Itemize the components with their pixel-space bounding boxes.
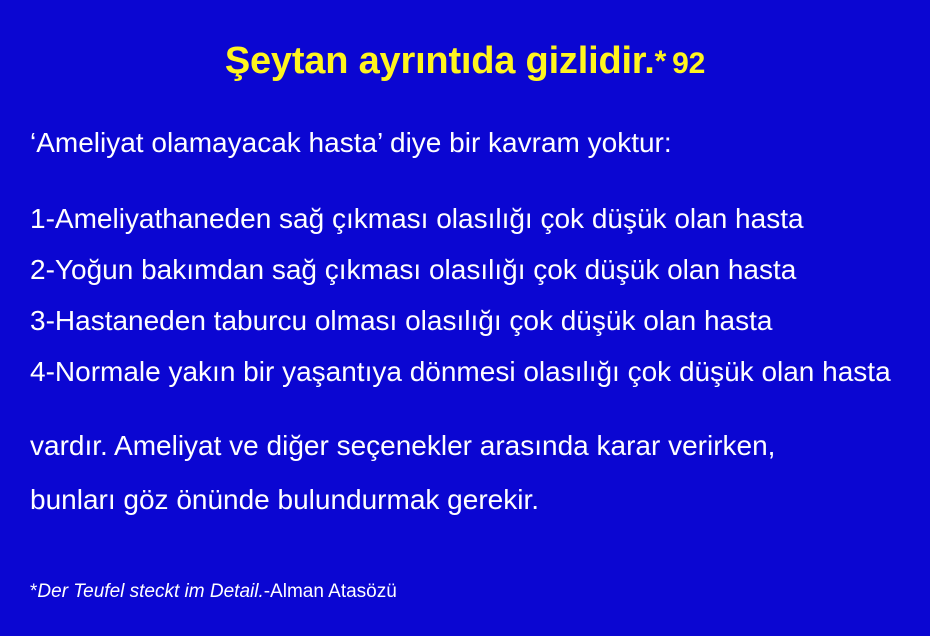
slide-body: ‘Ameliyat olamayacak hasta’ diye bir kav… xyxy=(30,126,920,517)
list-item: 2-Yoğun bakımdan sağ çıkması olasılığı ç… xyxy=(30,253,920,287)
slide-title-main: Şeytan ayrıntıda gizlidir. xyxy=(225,40,655,82)
paragraph-line: vardır. Ameliyat ve diğer seçenekler ara… xyxy=(30,429,920,463)
spacer-item xyxy=(30,236,920,253)
list-item: 3-Hastaneden taburcu olması olasılığı ço… xyxy=(30,304,920,338)
spacer-item xyxy=(30,338,920,355)
list-item: 1-Ameliyathaneden sağ çıkması olasılığı … xyxy=(30,202,920,236)
lead-line: ‘Ameliyat olamayacak hasta’ diye bir kav… xyxy=(30,126,920,160)
spacer-list-to-paragraph xyxy=(30,389,920,429)
spacer-item xyxy=(30,287,920,304)
slide-canvas: Şeytan ayrıntıda gizlidir.*92 ‘Ameliyat … xyxy=(0,0,930,636)
list-item: 4-Normale yakın bir yaşantıya dönmesi ol… xyxy=(30,355,920,389)
slide-title-footnote-marker: * xyxy=(655,45,666,78)
spacer-lead-to-list xyxy=(30,160,920,202)
patient-criteria-list: 1-Ameliyathaneden sağ çıkması olasılığı … xyxy=(30,202,920,389)
footnote: *Der Teufel steckt im Detail.-Alman Atas… xyxy=(30,580,397,604)
spacer-paragraph xyxy=(30,463,920,483)
footnote-attribution: -Alman Atasözü xyxy=(264,581,397,602)
paragraph-line: bunları göz önünde bulundurmak gerekir. xyxy=(30,483,920,517)
slide-title-number: 92 xyxy=(672,47,705,80)
slide-title: Şeytan ayrıntıda gizlidir.*92 xyxy=(0,38,930,87)
footnote-german-proverb: Der Teufel steckt im Detail. xyxy=(37,581,263,602)
